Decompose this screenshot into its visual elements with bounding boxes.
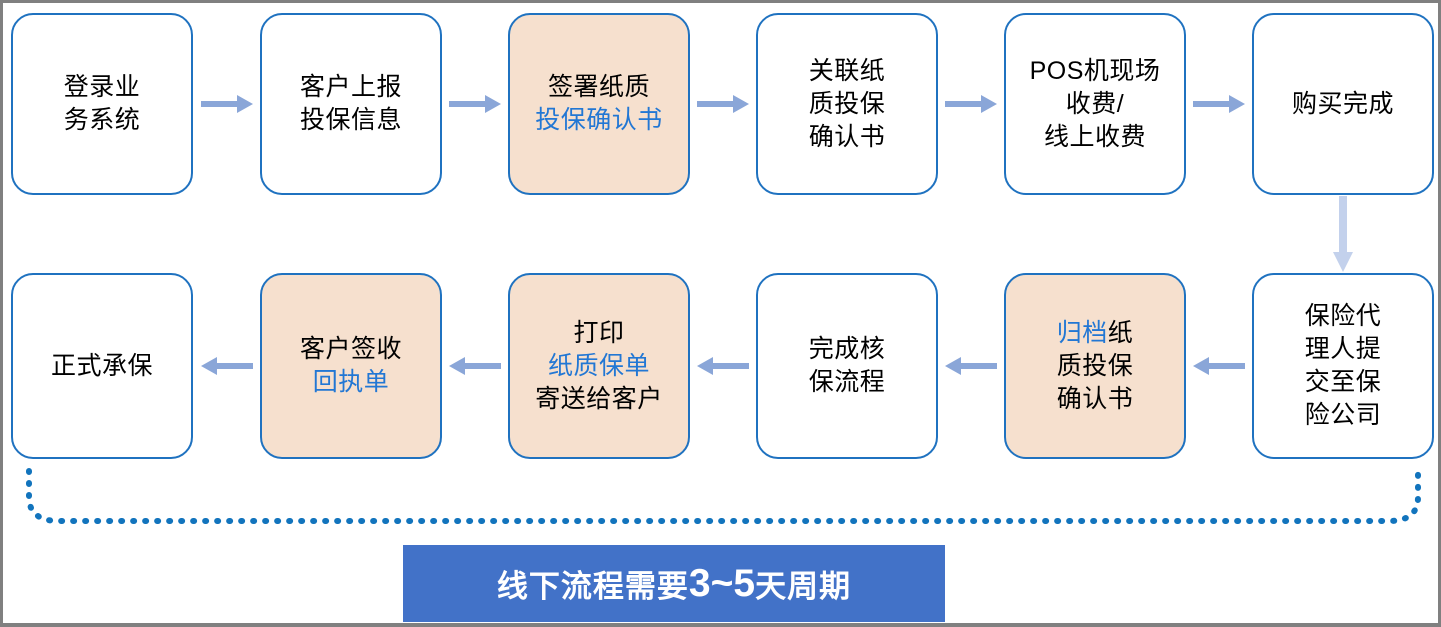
flow-node-complete-underwriting-process[interactable]: 完成核 保流程 <box>756 273 938 459</box>
flow-node-label: 归档纸 质投保 确认书 <box>1057 317 1134 416</box>
flow-node-line: 客户签收 <box>300 333 402 366</box>
arrow-print-to-sign-receipt <box>449 355 501 377</box>
flow-node-label: 签署纸质 投保确认书 <box>535 71 663 137</box>
flow-node-line: 质投保 <box>809 88 886 121</box>
flow-node-print-paper-policy[interactable]: 打印 纸质保单 寄送给客户 <box>508 273 690 459</box>
flow-node-line-accent: 归档 <box>1057 319 1108 347</box>
flow-node-line: 投保信息 <box>300 104 402 137</box>
flow-node-line-rest: 纸 <box>1108 319 1134 347</box>
arrow-pos-to-purchase <box>1193 93 1245 115</box>
flow-node-line: 交至保 <box>1305 366 1382 399</box>
flow-node-agent-submit-to-insurer[interactable]: 保险代 理人提 交至保 险公司 <box>1252 273 1434 459</box>
arrow-agent-to-archive <box>1193 355 1245 377</box>
flowchart-canvas: 登录业 务系统 客户上报 投保信息 签署纸质 投保确认书 关联纸 质投保 确认书 <box>3 3 1438 623</box>
flow-node-line: 归档纸 <box>1057 317 1134 350</box>
flow-node-line: 打印 <box>535 317 663 350</box>
flow-node-line: 确认书 <box>1057 383 1134 416</box>
cycle-duration-banner: 线下流程需要3~5天周期 <box>403 545 945 622</box>
flow-node-label: POS机现场 收费/ 线上收费 <box>1030 55 1161 154</box>
flow-node-customer-sign-receipt[interactable]: 客户签收 回执单 <box>260 273 442 459</box>
flow-node-label: 登录业 务系统 <box>64 71 141 137</box>
flow-node-line: 险公司 <box>1305 399 1382 432</box>
flow-node-sign-paper-confirmation[interactable]: 签署纸质 投保确认书 <box>508 13 690 195</box>
flow-node-purchase-complete[interactable]: 购买完成 <box>1252 13 1434 195</box>
arrow-complete-to-print <box>697 355 749 377</box>
flow-node-pos-onsite-charge[interactable]: POS机现场 收费/ 线上收费 <box>1004 13 1186 195</box>
flow-node-link-paper-confirmation[interactable]: 关联纸 质投保 确认书 <box>756 13 938 195</box>
flow-node-line: 关联纸 <box>809 55 886 88</box>
flow-node-label: 完成核 保流程 <box>809 333 886 399</box>
flow-node-line: 务系统 <box>64 104 141 137</box>
banner-prefix: 线下流程需要 <box>497 561 689 606</box>
flow-node-archive-paper-confirmation[interactable]: 归档纸 质投保 确认书 <box>1004 273 1186 459</box>
arrow-purchase-to-agent <box>1332 196 1354 272</box>
flow-node-line: 寄送给客户 <box>535 383 663 416</box>
flow-node-label: 保险代 理人提 交至保 险公司 <box>1305 300 1382 432</box>
arrow-link-to-pos <box>945 93 997 115</box>
dotted-bracket <box>3 453 1441 543</box>
flow-node-line: 质投保 <box>1057 350 1134 383</box>
flow-node-line-accent: 投保确认书 <box>535 104 663 137</box>
flow-node-label: 正式承保 <box>51 350 153 383</box>
flow-node-label: 客户签收 回执单 <box>300 333 402 399</box>
arrow-sign-to-link <box>697 93 749 115</box>
flow-node-line: 保流程 <box>809 366 886 399</box>
flow-node-label: 打印 纸质保单 寄送给客户 <box>535 317 663 416</box>
flow-node-line: 理人提 <box>1305 333 1382 366</box>
flow-node-line: POS机现场 <box>1030 55 1161 88</box>
flow-node-line-accent: 回执单 <box>300 366 402 399</box>
flow-node-login-system[interactable]: 登录业 务系统 <box>11 13 193 195</box>
flow-node-line: 收费/ <box>1030 88 1161 121</box>
arrow-report-to-sign <box>449 93 501 115</box>
banner-emphasis: 3~5 <box>689 562 755 606</box>
banner-suffix: 天周期 <box>755 561 851 606</box>
arrow-archive-to-complete <box>945 355 997 377</box>
flowchart-slide: 登录业 务系统 客户上报 投保信息 签署纸质 投保确认书 关联纸 质投保 确认书 <box>0 0 1441 627</box>
flow-node-label: 关联纸 质投保 确认书 <box>809 55 886 154</box>
flow-node-label: 客户上报 投保信息 <box>300 71 402 137</box>
flow-node-customer-report[interactable]: 客户上报 投保信息 <box>260 13 442 195</box>
flow-node-line: 登录业 <box>64 71 141 104</box>
arrow-sign-receipt-to-formal <box>201 355 253 377</box>
flow-node-line-accent: 纸质保单 <box>535 350 663 383</box>
flow-node-line: 确认书 <box>809 121 886 154</box>
flow-node-line: 线上收费 <box>1030 121 1161 154</box>
flow-node-formal-underwriting[interactable]: 正式承保 <box>11 273 193 459</box>
flow-node-line: 完成核 <box>809 333 886 366</box>
flow-node-line: 正式承保 <box>51 350 153 383</box>
flow-node-line: 客户上报 <box>300 71 402 104</box>
flow-node-line: 购买完成 <box>1292 88 1394 121</box>
flow-node-line: 保险代 <box>1305 300 1382 333</box>
flow-node-line: 签署纸质 <box>535 71 663 104</box>
arrow-login-to-report <box>201 93 253 115</box>
flow-node-label: 购买完成 <box>1292 88 1394 121</box>
